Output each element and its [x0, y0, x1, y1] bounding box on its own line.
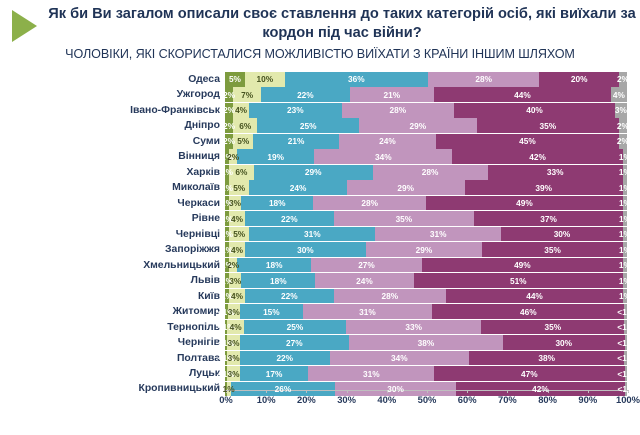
stacked-bar: 1%2%19%34%42%1%: [225, 149, 627, 164]
segment-value-label: 28%: [390, 105, 407, 115]
chart-row: Одеса5%10%36%28%20%2%: [0, 72, 640, 87]
bar-segment-warm: 3%: [229, 196, 241, 211]
segment-value-label: 33%: [547, 167, 564, 177]
chart-row: Рівне1%4%22%35%37%1%: [0, 211, 640, 226]
segment-value-label: <1%: [617, 322, 634, 332]
segment-value-label: 35%: [545, 322, 562, 332]
bar-segment-cold: 34%: [314, 149, 452, 164]
axis-tick-label: 0%: [219, 394, 233, 405]
segment-value-label: 49%: [514, 260, 531, 270]
bar-segment-very-cold: 44%: [446, 289, 623, 304]
bar-segment-cold: 33%: [346, 320, 481, 335]
bar-segment-very-cold: 35%: [477, 118, 619, 133]
bar-segment-neutral: 30%: [245, 242, 366, 257]
bar-segment-cold: 35%: [334, 211, 475, 226]
page-subtitle: ЧОЛОВІКИ, ЯКІ СКОРИСТАЛИСЯ МОЖЛИВІСТЮ ВИ…: [0, 47, 640, 61]
bar-segment-cold: 24%: [315, 273, 413, 288]
row-category-label: Івано-Франківськ: [0, 105, 225, 116]
bar-segment-no-answer: 1%: [623, 165, 627, 180]
axis-tick: [427, 390, 428, 393]
segment-value-label: 34%: [391, 353, 408, 363]
bar-segment-very-cold: 49%: [426, 196, 623, 211]
segment-value-label: 2%: [227, 260, 239, 270]
segment-value-label: 1%: [619, 198, 631, 208]
bar-segment-cold: 28%: [428, 72, 539, 87]
segment-value-label: 3%: [228, 307, 240, 317]
bar-segment-cold: 28%: [313, 196, 426, 211]
segment-value-label: <1%: [617, 307, 634, 317]
segment-value-label: 2%: [617, 136, 629, 146]
axis-tick: [266, 390, 267, 393]
axis-tick: [347, 390, 348, 393]
segment-value-label: 3%: [229, 198, 241, 208]
play-triangle-icon: [12, 10, 37, 42]
bar-segment-warm: 3%: [227, 366, 239, 381]
bar-segment-very-cold: 42%: [452, 149, 623, 164]
chart-row: Вінниця1%2%19%34%42%1%: [0, 149, 640, 164]
bar-segment-very-cold: 39%: [465, 180, 623, 195]
stacked-bar: 1%3%18%28%49%1%: [225, 196, 627, 211]
axis-tick-label: 90%: [578, 394, 597, 405]
bar-segment-very-warm: 2%: [225, 87, 233, 102]
bar-segment-no-answer: <1%: [624, 351, 626, 366]
bar-segment-cold: 28%: [334, 289, 447, 304]
stacked-bar: 1%5%31%31%30%1%: [225, 227, 627, 242]
segment-value-label: <1%: [617, 369, 634, 379]
bar-segment-very-cold: 38%: [469, 351, 625, 366]
bar-segment-very-warm: 2%: [225, 103, 233, 118]
chart-row: Дніпро2%6%25%29%35%2%: [0, 118, 640, 133]
chart-row: Запоріжжя1%4%30%29%35%1%: [0, 242, 640, 257]
stacked-bar: 1%4%30%29%35%1%: [225, 242, 627, 257]
segment-value-label: 22%: [276, 353, 293, 363]
chart-row: Ужгород2%7%22%21%44%4%: [0, 87, 640, 102]
segment-value-label: 22%: [281, 291, 298, 301]
segment-value-label: 30%: [555, 338, 572, 348]
stacked-bar: 1%5%24%29%39%1%: [225, 180, 627, 195]
row-category-label: Суми: [0, 136, 225, 147]
segment-value-label: 3%: [228, 353, 240, 363]
bar-segment-no-answer: 4%: [611, 87, 627, 102]
segment-value-label: 2%: [617, 121, 629, 131]
segment-value-label: 24%: [356, 276, 373, 286]
chart-row: Суми2%5%21%24%45%2%: [0, 134, 640, 149]
segment-value-label: 1%: [619, 245, 631, 255]
row-category-label: Тернопіль: [0, 322, 225, 333]
chart-row: Хмельницький1%2%18%27%49%1%: [0, 258, 640, 273]
bar-segment-cold: 24%: [339, 134, 436, 149]
bar-segment-very-cold: 30%: [501, 227, 623, 242]
chart-row: Житомир<1%3%15%31%46%<1%: [0, 304, 640, 319]
row-category-label: Одеса: [0, 74, 225, 85]
chart-row: Київ1%4%22%28%44%1%: [0, 289, 640, 304]
bar-segment-cold: 31%: [308, 366, 434, 381]
segment-value-label: 35%: [544, 245, 561, 255]
segment-value-label: 40%: [526, 105, 543, 115]
segment-value-label: 31%: [363, 369, 380, 379]
stacked-bar: 5%10%36%28%20%2%: [225, 72, 627, 87]
row-category-label: Харків: [0, 167, 225, 178]
bar-segment-very-cold: 51%: [414, 273, 623, 288]
segment-value-label: <1%: [617, 338, 634, 348]
bar-segment-neutral: 22%: [245, 289, 333, 304]
bar-segment-warm: 6%: [233, 118, 257, 133]
bar-segment-neutral: 18%: [237, 258, 311, 273]
bar-segment-very-cold: 33%: [488, 165, 623, 180]
axis-tick: [588, 390, 589, 393]
segment-value-label: 1%: [619, 183, 631, 193]
segment-value-label: 29%: [305, 167, 322, 177]
segment-value-label: 4%: [613, 90, 625, 100]
stacked-bar: 1%2%18%27%49%1%: [225, 258, 627, 273]
segment-value-label: 15%: [263, 307, 280, 317]
page-title: Як би Ви загалом описали своє ставлення …: [48, 5, 636, 44]
segment-value-label: 3%: [228, 369, 240, 379]
bar-segment-no-answer: 1%: [623, 227, 627, 242]
bar-segment-no-answer: 1%: [623, 258, 627, 273]
segment-value-label: 26%: [275, 384, 292, 394]
bar-segment-cold: 28%: [342, 103, 455, 118]
segment-value-label: 22%: [297, 90, 314, 100]
segment-value-label: 21%: [288, 136, 305, 146]
bar-segment-neutral: 27%: [240, 335, 349, 350]
segment-value-label: 1%: [619, 276, 631, 286]
bar-segment-very-cold: 35%: [482, 242, 623, 257]
stacked-bar: 2%5%21%24%45%2%: [225, 134, 627, 149]
axis-tick-label: 10%: [257, 394, 276, 405]
segment-value-label: 27%: [286, 338, 303, 348]
bar-segment-neutral: 21%: [253, 134, 338, 149]
stacked-bar: <1%3%15%31%46%<1%: [225, 304, 627, 319]
segment-value-label: 19%: [267, 152, 284, 162]
bar-segment-neutral: 22%: [240, 351, 330, 366]
bar-segment-very-cold: 30%: [503, 335, 625, 350]
segment-value-label: 17%: [266, 369, 283, 379]
segment-value-label: 6%: [235, 167, 247, 177]
segment-value-label: 38%: [538, 353, 555, 363]
bar-segment-very-warm: 5%: [225, 72, 245, 87]
axis-tick-label: 100%: [616, 394, 640, 405]
segment-value-label: 28%: [361, 198, 378, 208]
stacked-bar: <1%3%22%34%38%<1%: [225, 351, 627, 366]
stacked-bar: 2%4%23%28%40%3%: [225, 103, 627, 118]
row-category-label: Полтава: [0, 353, 225, 364]
segment-value-label: 1%: [619, 152, 631, 162]
segment-value-label: 36%: [348, 74, 365, 84]
bar-segment-warm: 2%: [229, 149, 237, 164]
segment-value-label: <1%: [617, 353, 634, 363]
row-category-label: Миколаїв: [0, 182, 225, 193]
segment-value-label: 3%: [615, 105, 627, 115]
segment-value-label: 6%: [239, 121, 251, 131]
bar-segment-neutral: 29%: [254, 165, 373, 180]
segment-value-label: 3%: [229, 276, 241, 286]
axis-tick-label: 80%: [538, 394, 557, 405]
row-category-label: Дніпро: [0, 120, 225, 131]
segment-value-label: 4%: [231, 291, 243, 301]
segment-value-label: 34%: [375, 152, 392, 162]
segment-value-label: 1%: [221, 229, 233, 239]
segment-value-label: 2%: [223, 121, 235, 131]
axis-tick-label: 30%: [337, 394, 356, 405]
bar-segment-very-cold: 20%: [539, 72, 619, 87]
bar-segment-cold: 27%: [311, 258, 422, 273]
stacked-bar: 1%4%22%35%37%1%: [225, 211, 627, 226]
segment-value-label: 27%: [358, 260, 375, 270]
axis-tick: [467, 390, 468, 393]
row-category-label: Вінниця: [0, 151, 225, 162]
segment-value-label: 1%: [221, 183, 233, 193]
segment-value-label: 42%: [529, 152, 546, 162]
row-category-label: Рівне: [0, 213, 225, 224]
stacked-bar: 2%6%25%29%35%2%: [225, 118, 627, 133]
stacked-bar: 1%3%18%24%51%1%: [225, 273, 627, 288]
bar-segment-warm: 4%: [229, 211, 245, 226]
segment-value-label: 18%: [269, 198, 286, 208]
segment-value-label: 1%: [619, 260, 631, 270]
bar-segment-neutral: 18%: [241, 196, 313, 211]
stacked-bar: <1%3%27%38%30%<1%: [225, 335, 627, 350]
segment-value-label: 28%: [475, 74, 492, 84]
bar-segment-neutral: 25%: [244, 320, 346, 335]
bar-segment-cold: 28%: [373, 165, 488, 180]
bar-segment-no-answer: 1%: [623, 196, 627, 211]
bar-segment-cold: 21%: [350, 87, 434, 102]
chart-row: Тернопіль<1%4%25%33%35%<1%: [0, 320, 640, 335]
segment-value-label: 5%: [229, 74, 241, 84]
segment-value-label: 4%: [235, 105, 247, 115]
segment-value-label: 4%: [231, 245, 243, 255]
segment-value-label: 29%: [416, 245, 433, 255]
axis-tick: [306, 390, 307, 393]
segment-value-label: 44%: [526, 291, 543, 301]
segment-value-label: 29%: [410, 121, 427, 131]
axis-tick-label: 50%: [418, 394, 437, 405]
segment-value-label: 2%: [223, 90, 235, 100]
segment-value-label: 44%: [514, 90, 531, 100]
segment-value-label: 39%: [535, 183, 552, 193]
bar-segment-very-cold: 40%: [454, 103, 615, 118]
stacked-bar: <1%3%17%31%47%<1%: [225, 366, 627, 381]
bar-segment-neutral: 22%: [245, 211, 333, 226]
stacked-bar: 1%6%29%28%33%1%: [225, 165, 627, 180]
bar-segment-neutral: 19%: [237, 149, 314, 164]
segment-value-label: 24%: [290, 183, 307, 193]
chart-row: Полтава<1%3%22%34%38%<1%: [0, 351, 640, 366]
bar-segment-neutral: 17%: [240, 366, 309, 381]
segment-value-label: 1%: [619, 291, 631, 301]
bar-segment-no-answer: <1%: [624, 320, 626, 335]
stacked-bar: 1%4%22%28%44%1%: [225, 289, 627, 304]
bar-segment-very-cold: 35%: [481, 320, 624, 335]
segment-value-label: 2%: [223, 105, 235, 115]
bar-segment-no-answer: 2%: [619, 134, 627, 149]
stacked-bar: <1%4%25%33%35%<1%: [225, 320, 627, 335]
bar-segment-neutral: 25%: [257, 118, 359, 133]
segment-value-label: 3%: [228, 338, 240, 348]
segment-value-label: 37%: [540, 214, 557, 224]
segment-value-label: 47%: [521, 369, 538, 379]
segment-value-label: 46%: [520, 307, 537, 317]
bar-segment-warm: 3%: [227, 351, 239, 366]
segment-value-label: 42%: [532, 384, 549, 394]
bar-segment-no-answer: 3%: [615, 103, 627, 118]
segment-value-label: 30%: [387, 384, 404, 394]
segment-value-label: 21%: [383, 90, 400, 100]
bar-segment-neutral: 24%: [249, 180, 346, 195]
bar-segment-cold: 31%: [303, 304, 433, 319]
bar-segment-very-cold: 44%: [434, 87, 611, 102]
bar-segment-no-answer: 1%: [623, 149, 627, 164]
segment-value-label: 29%: [397, 183, 414, 193]
bar-segment-very-warm: 2%: [225, 134, 233, 149]
chart-row: Черкаси1%3%18%28%49%1%: [0, 196, 640, 211]
bar-segment-neutral: 22%: [261, 87, 349, 102]
bar-segment-warm: 4%: [229, 289, 245, 304]
bar-segment-cold: 29%: [347, 180, 465, 195]
bar-segment-cold: 38%: [349, 335, 503, 350]
bar-segment-no-answer: <1%: [625, 366, 627, 381]
segment-value-label: 1%: [619, 214, 631, 224]
segment-value-label: 1%: [221, 167, 233, 177]
chart-row: Львів1%3%18%24%51%1%: [0, 273, 640, 288]
segment-value-label: 4%: [231, 214, 243, 224]
chart-header: Як би Ви загалом описали своє ставлення …: [0, 0, 640, 68]
bar-segment-very-cold: 46%: [432, 304, 624, 319]
bar-segment-neutral: 36%: [285, 72, 428, 87]
bar-segment-neutral: 18%: [241, 273, 315, 288]
segment-value-label: 30%: [554, 229, 571, 239]
segment-value-label: 2%: [617, 74, 629, 84]
row-category-label: Хмельницький: [0, 260, 225, 271]
axis-tick: [507, 390, 508, 393]
bar-segment-no-answer: 1%: [623, 180, 627, 195]
segment-value-label: 31%: [304, 229, 321, 239]
segment-value-label: 33%: [405, 322, 422, 332]
segment-value-label: 25%: [300, 121, 317, 131]
bar-segment-warm: 3%: [227, 335, 239, 350]
segment-value-label: 31%: [359, 307, 376, 317]
segment-value-label: 10%: [256, 74, 273, 84]
bar-segment-no-answer: 1%: [623, 211, 627, 226]
bar-segment-no-answer: 1%: [623, 273, 627, 288]
segment-value-label: 28%: [422, 167, 439, 177]
segment-value-label: 5%: [233, 183, 245, 193]
bar-segment-cold: 29%: [366, 242, 483, 257]
axis-tick-label: 20%: [297, 394, 316, 405]
chart-row: Івано-Франківськ2%4%23%28%40%3%: [0, 103, 640, 118]
bar-segment-no-answer: 2%: [619, 118, 627, 133]
bar-segment-warm: 2%: [229, 258, 237, 273]
bar-segment-no-answer: <1%: [625, 335, 627, 350]
bar-segment-warm: 4%: [229, 242, 245, 257]
chart-row: Миколаїв1%5%24%29%39%1%: [0, 180, 640, 195]
segment-value-label: 45%: [519, 136, 536, 146]
chart-row: Чернівці1%5%31%31%30%1%: [0, 227, 640, 242]
bar-segment-neutral: 31%: [249, 227, 375, 242]
row-category-label: Черкаси: [0, 198, 225, 209]
bar-segment-very-cold: 47%: [434, 366, 624, 381]
bar-segment-warm: 7%: [233, 87, 261, 102]
segment-value-label: 18%: [266, 260, 283, 270]
segment-value-label: 4%: [230, 322, 242, 332]
axis-tick-label: 40%: [377, 394, 396, 405]
segment-value-label: 20%: [571, 74, 588, 84]
bar-segment-cold: 34%: [330, 351, 469, 366]
stacked-bar-chart: Одеса5%10%36%28%20%2%Ужгород2%7%22%21%44…: [0, 68, 640, 398]
segment-value-label: 5%: [233, 229, 245, 239]
row-category-label: Луцьк: [0, 368, 225, 379]
bar-segment-no-answer: 2%: [619, 72, 627, 87]
bar-segment-no-answer: 1%: [623, 289, 627, 304]
row-category-label: Чернігів: [0, 337, 225, 348]
row-category-label: Ужгород: [0, 89, 225, 100]
bar-segment-warm: 3%: [228, 304, 241, 319]
bar-segment-no-answer: 1%: [623, 242, 627, 257]
segment-value-label: 31%: [430, 229, 447, 239]
bar-segment-neutral: 23%: [249, 103, 341, 118]
bar-segment-warm: 3%: [229, 273, 241, 288]
segment-value-label: 18%: [270, 276, 287, 286]
segment-value-label: 2%: [223, 136, 235, 146]
row-category-label: Львів: [0, 275, 225, 286]
segment-value-label: 7%: [241, 90, 253, 100]
chart-rows: Одеса5%10%36%28%20%2%Ужгород2%7%22%21%44…: [0, 72, 640, 397]
segment-value-label: 1%: [619, 229, 631, 239]
bar-segment-warm: 10%: [245, 72, 285, 87]
bar-segment-neutral: 15%: [240, 304, 303, 319]
chart-row: Чернігів<1%3%27%38%30%<1%: [0, 335, 640, 350]
segment-value-label: 1%: [619, 167, 631, 177]
segment-value-label: 24%: [379, 136, 396, 146]
segment-value-label: 38%: [418, 338, 435, 348]
chart-row: Харків1%6%29%28%33%1%: [0, 165, 640, 180]
segment-value-label: 1%: [223, 384, 235, 394]
bar-segment-warm: 5%: [233, 134, 253, 149]
row-category-label: Житомир: [0, 306, 225, 317]
segment-value-label: 35%: [539, 121, 556, 131]
stacked-bar: 2%7%22%21%44%4%: [225, 87, 627, 102]
segment-value-label: <1%: [618, 384, 635, 394]
segment-value-label: 25%: [287, 322, 304, 332]
segment-value-label: 28%: [382, 291, 399, 301]
segment-value-label: 35%: [396, 214, 413, 224]
segment-value-label: 51%: [510, 276, 527, 286]
row-category-label: Чернівці: [0, 229, 225, 240]
segment-value-label: 23%: [287, 105, 304, 115]
bar-segment-cold: 29%: [359, 118, 477, 133]
bar-segment-cold: 31%: [375, 227, 501, 242]
bar-segment-warm: 4%: [227, 320, 243, 335]
segment-value-label: 2%: [227, 152, 239, 162]
row-category-label: Запоріжжя: [0, 244, 225, 255]
bar-segment-no-answer: <1%: [624, 304, 627, 319]
chart-row: Луцьк<1%3%17%31%47%<1%: [0, 366, 640, 381]
axis-tick-label: 60%: [458, 394, 477, 405]
bar-segment-very-cold: 37%: [474, 211, 623, 226]
segment-value-label: 49%: [516, 198, 533, 208]
axis-tick-label: 70%: [498, 394, 517, 405]
segment-value-label: 30%: [297, 245, 314, 255]
bar-segment-very-cold: 49%: [422, 258, 623, 273]
bar-segment-warm: 4%: [233, 103, 249, 118]
bar-segment-very-warm: 2%: [225, 118, 233, 133]
segment-value-label: 5%: [237, 136, 249, 146]
bar-segment-very-cold: 45%: [436, 134, 619, 149]
chart-page: Як би Ви загалом описали своє ставлення …: [0, 0, 640, 435]
row-category-label: Київ: [0, 291, 225, 302]
segment-value-label: 22%: [281, 214, 298, 224]
